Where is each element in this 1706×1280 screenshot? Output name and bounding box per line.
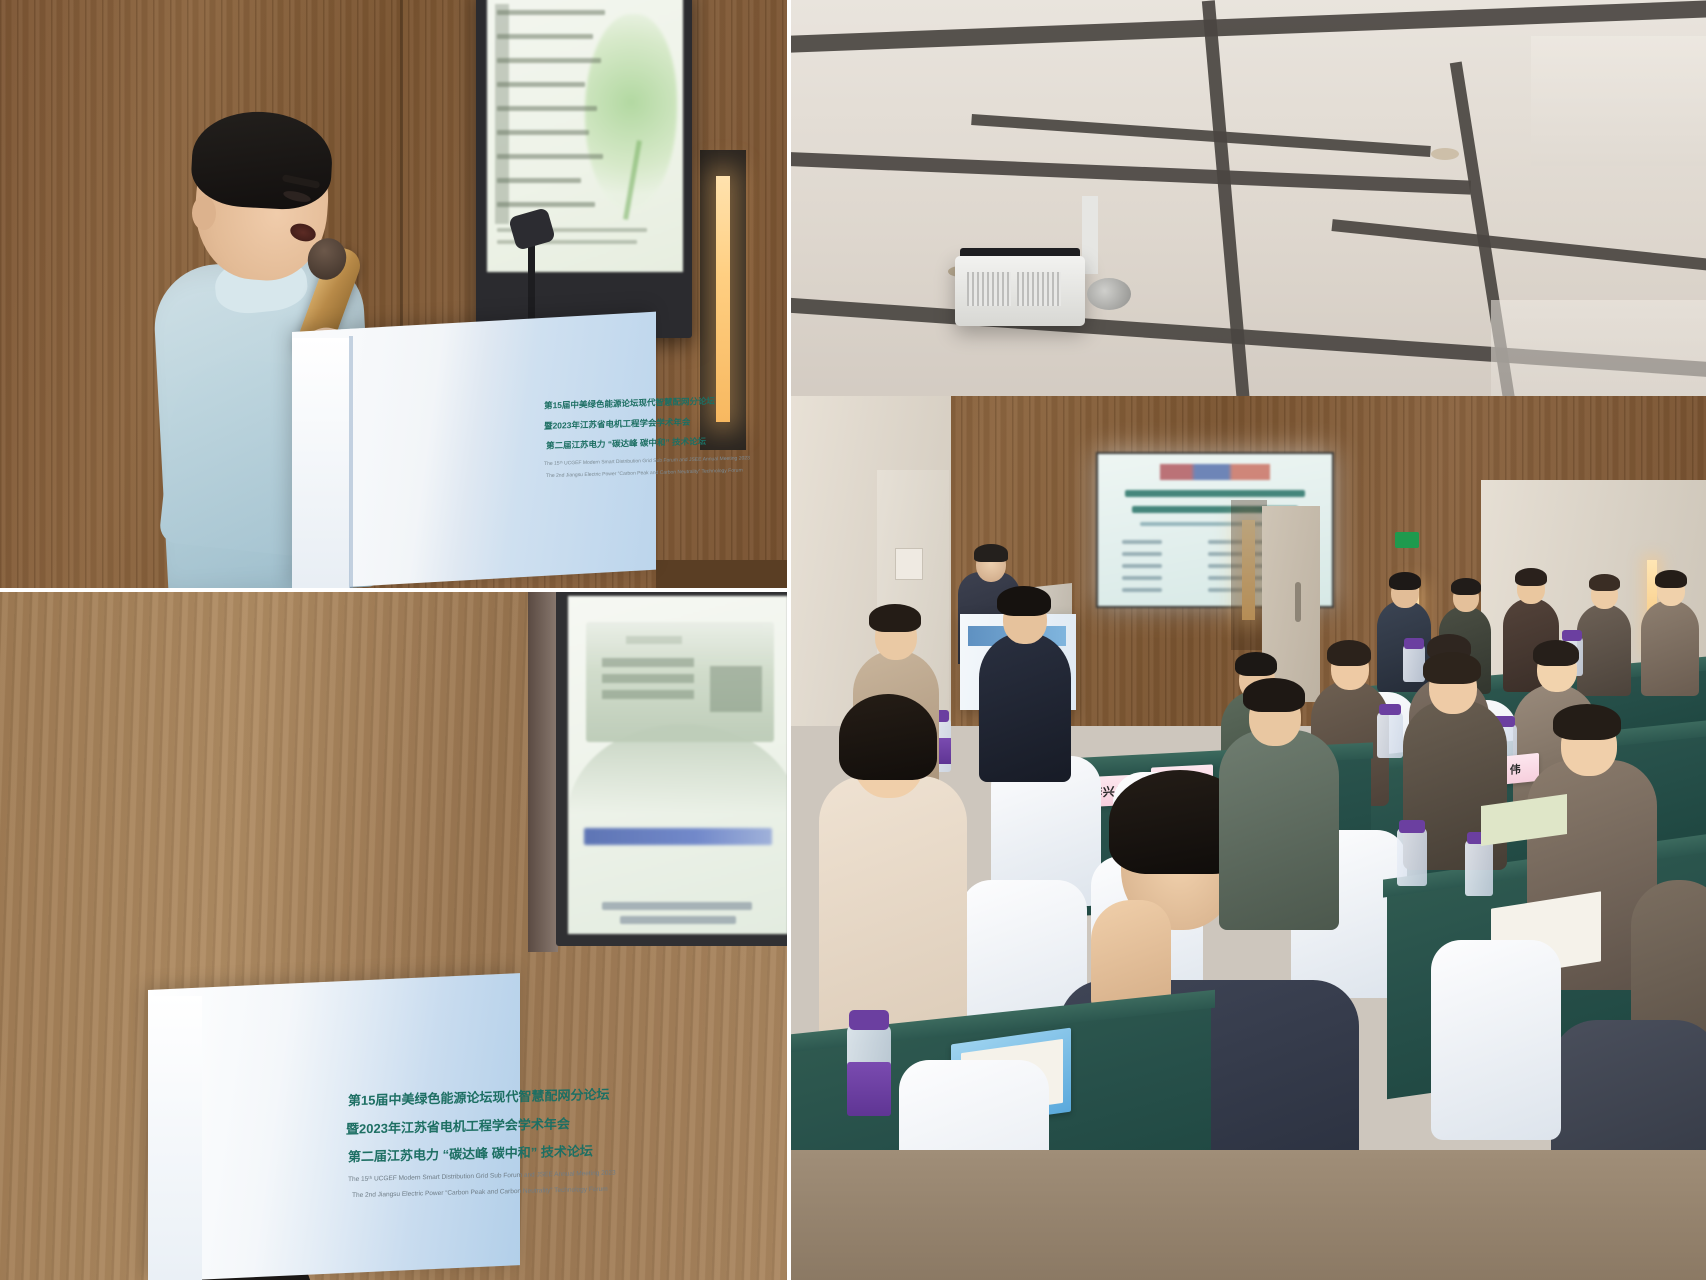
presenter-hair xyxy=(974,544,1008,562)
audience-person xyxy=(1219,730,1339,930)
chair xyxy=(1431,940,1561,1140)
panel-conference-room: 王 伟 李兴岳 李 航 xyxy=(791,0,1706,1280)
exit-sign-icon xyxy=(1395,532,1419,548)
panel-bottom-left-speaker: 第15届中美绿色能源论坛现代智慧配网分论坛 暨2023年江苏省电机工程学会学术年… xyxy=(0,592,787,1280)
bottle-label xyxy=(847,1062,891,1116)
smoke-detector-icon xyxy=(1431,148,1459,160)
speaker-ear xyxy=(192,196,216,230)
screen-header-line1 xyxy=(1125,490,1305,497)
bottle-cap xyxy=(849,1010,889,1030)
water-bottle xyxy=(1377,712,1403,758)
wall-sconce-light xyxy=(716,176,730,422)
projector-lens xyxy=(1087,278,1131,310)
slide-title-bar xyxy=(584,828,772,845)
wall-pillar xyxy=(528,592,558,952)
carpet xyxy=(791,1150,1706,1280)
door-handle[interactable] xyxy=(1295,582,1301,622)
water-bottle xyxy=(1403,644,1425,682)
slide-affiliation-bar xyxy=(602,902,752,910)
audience-person xyxy=(1641,600,1699,696)
photo-collage: 第15届中美绿色能源论坛现代智慧配网分论坛 暨2023年江苏省电机工程学会学术年… xyxy=(0,0,1706,1280)
audience-person xyxy=(1577,604,1631,696)
water-bottle xyxy=(1465,840,1493,896)
wall-seam xyxy=(400,0,403,340)
panel-top-left-speaker: 第15届中美绿色能源论坛现代智慧配网分论坛 暨2023年江苏省电机工程学会学术年… xyxy=(0,0,787,588)
collage-divider-vertical xyxy=(787,0,791,1280)
wall-outlet xyxy=(895,548,923,580)
audience-person xyxy=(979,632,1071,782)
hair xyxy=(839,694,937,780)
presentation-slide-bottomleft xyxy=(568,596,787,934)
podium-side-panel xyxy=(292,338,350,588)
baseboard xyxy=(656,560,787,588)
collage-divider-horizontal xyxy=(0,588,791,592)
podium-bottom-left: 第15届中美绿色能源论坛现代智慧配网分论坛 暨2023年江苏省电机工程学会学术年… xyxy=(148,973,520,1280)
hand xyxy=(1091,900,1171,1010)
water-bottle xyxy=(1397,828,1427,886)
conference-logo xyxy=(1160,464,1270,480)
podium-side-panel-2 xyxy=(148,996,202,1280)
